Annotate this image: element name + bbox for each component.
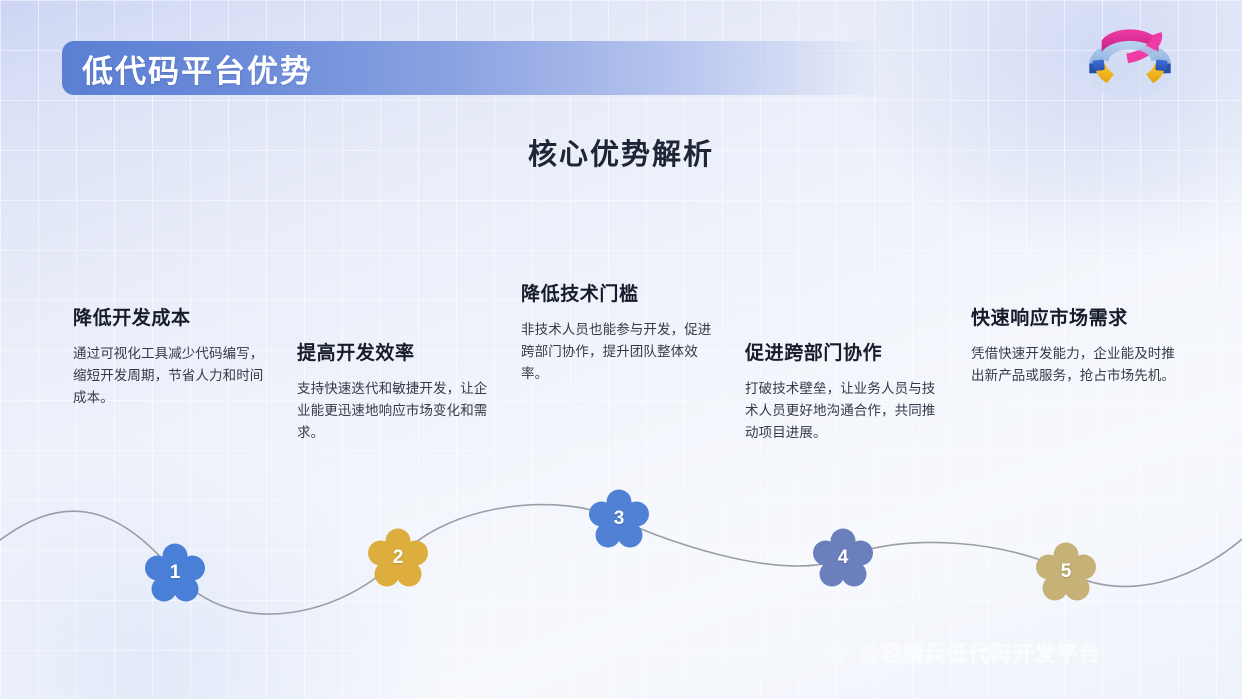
flower-marker-4[interactable]: 4 — [813, 528, 873, 588]
flower-marker-5[interactable]: 5 — [1036, 542, 1096, 602]
feature-item-4[interactable]: 促进跨部门协作 打破技术壁垒，让业务人员与技术人员更好地沟通合作，共同推动项目进… — [745, 338, 947, 444]
flower-number-5: 5 — [1036, 542, 1096, 602]
feature-title-2: 提高开发效率 — [297, 338, 497, 365]
ring-logo-icon — [1076, 14, 1184, 106]
feature-description-5: 凭借快速开发能力，企业能及时推出新产品或服务，抢占市场先机。 — [971, 343, 1176, 387]
baidu-paw-icon: du — [828, 641, 852, 665]
flower-number-2: 2 — [368, 528, 428, 588]
feature-description-3: 非技术人员也能参与开发，促进跨部门协作，提升团队整体效率。 — [521, 319, 721, 385]
flower-number-4: 4 — [813, 528, 873, 588]
feature-item-3[interactable]: 降低技术门槛 非技术人员也能参与开发，促进跨部门协作，提升团队整体效率。 — [521, 279, 721, 385]
feature-description-2: 支持快速迭代和敏捷开发，让企业能更迅速地响应市场变化和需求。 — [297, 378, 497, 444]
feature-item-5[interactable]: 快速响应市场需求 凭借快速开发能力，企业能及时推出新产品或服务，抢占市场先机。 — [971, 303, 1176, 387]
feature-item-2[interactable]: 提高开发效率 支持快速迭代和敏捷开发，让企业能更迅速地响应市场变化和需求。 — [297, 338, 497, 444]
flower-number-1: 1 — [145, 543, 205, 603]
feature-description-1: 通过可视化工具减少代码编写，缩短开发周期，节省人力和时间成本。 — [73, 343, 273, 409]
feature-title-5: 快速响应市场需求 — [971, 303, 1176, 330]
feature-item-1[interactable]: 降低开发成本 通过可视化工具减少代码编写，缩短开发周期，节省人力和时间成本。 — [73, 303, 273, 409]
feature-title-3: 降低技术门槛 — [521, 279, 721, 306]
flower-marker-1[interactable]: 1 — [145, 543, 205, 603]
flower-marker-3[interactable]: 3 — [589, 489, 649, 549]
watermark: du @轻骑兵低代码开发平台 — [828, 638, 1100, 668]
feature-description-4: 打破技术壁垒，让业务人员与技术人员更好地沟通合作，共同推动项目进展。 — [745, 378, 947, 444]
flower-marker-2[interactable]: 2 — [368, 528, 428, 588]
watermark-text: @轻骑兵低代码开发平台 — [859, 638, 1100, 668]
flower-number-3: 3 — [589, 489, 649, 549]
feature-title-1: 降低开发成本 — [73, 303, 273, 330]
feature-title-4: 促进跨部门协作 — [745, 338, 947, 365]
svg-text:du: du — [838, 657, 845, 663]
